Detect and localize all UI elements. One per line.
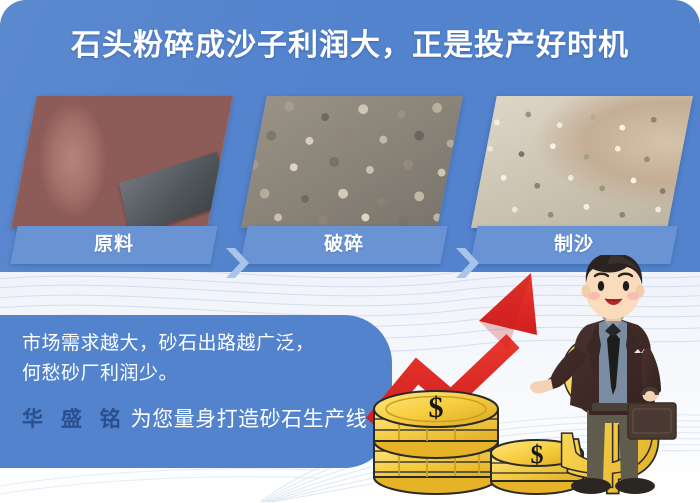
step-label-text: 原料 [14,226,214,264]
gravel-image [241,96,463,228]
page-title: 石头粉碎成沙子利润大，正是投产好时机 [0,24,700,68]
brand-tagline: 为您量身打造砂石生产线 [131,408,368,431]
washed-sand-photo [471,96,693,228]
copy-line-1: 市场需求越大，砂石出路越广泛， [22,329,382,359]
message-panel: 市场需求越大，砂石出路越广泛， 何愁砂厂利润少。 华 盛 铭为您量身打造砂石生产… [0,315,392,468]
promo-poster: 石头粉碎成沙子利润大，正是投产好时机 原料 破碎 [0,0,700,503]
copy-line-2: 何愁砂厂利润少。 [22,359,382,389]
coin-dollar-symbol: $ [429,391,444,424]
svg-text:$: $ [531,440,544,469]
brand-name: 华 盛 铭 [22,408,127,431]
process-step-raw-material: 原料 [24,96,220,266]
crushed-gravel-photo [241,96,463,228]
river-pebbles-photo [11,96,233,228]
dark-slab-shape [119,152,228,228]
process-steps: 原料 破碎 制沙 [0,96,700,266]
illustration-group: $ $ $ $ [355,255,700,503]
pebbles-image [11,96,233,228]
step-label-raw-material: 原料 [10,226,217,264]
sand-image [471,96,693,228]
marketing-copy: 市场需求越大，砂石出路越广泛， 何愁砂厂利润少。 华 盛 铭为您量身打造砂石生产… [22,329,382,435]
gold-coin-stack: $ [374,391,498,494]
process-step-crushing: 破碎 [254,96,450,266]
process-step-sand-making: 制沙 [484,96,680,266]
copy-line-3: 华 盛 铭为您量身打造砂石生产线 [22,405,382,435]
chevron-right-icon [224,246,250,280]
